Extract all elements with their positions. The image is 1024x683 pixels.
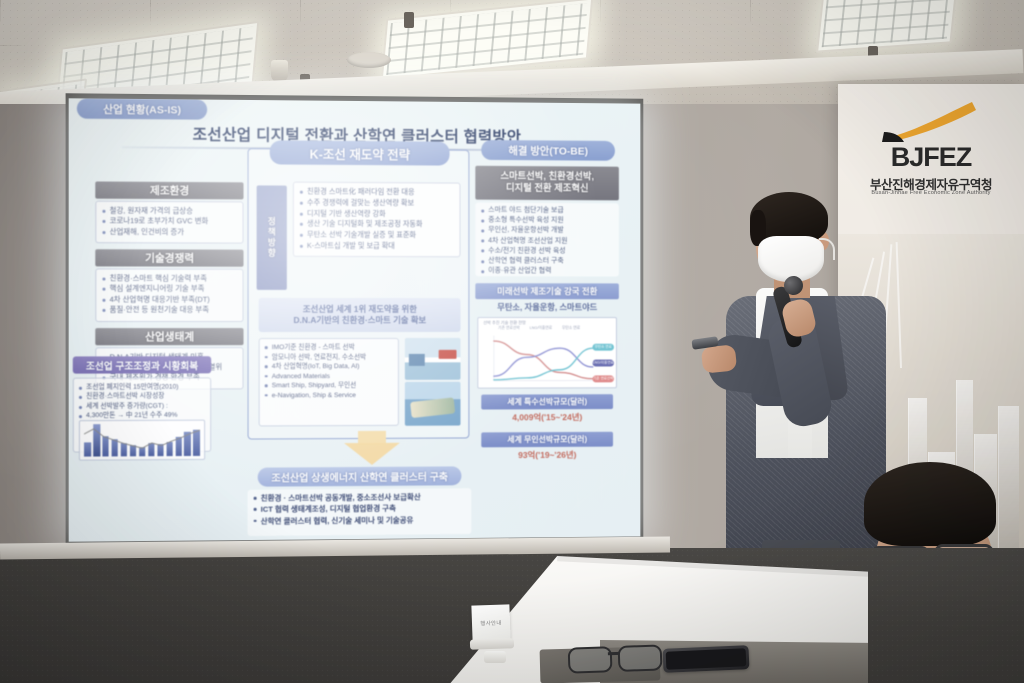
projection-screen: 조선산업 디지털 전환과 산학연 클러스터 협력방안 산업 현황(AS-IS) … xyxy=(69,98,641,541)
list-item: K-스마트십 개발 및 보급 확대 xyxy=(299,241,455,252)
k-shipbuilding-pill: K-조선 재도약 전략 xyxy=(270,140,450,165)
list-item: 산업재해, 인건비의 증가 xyxy=(101,227,237,238)
policy-direction-label: 정책방향 xyxy=(257,185,287,289)
series-tag-3: 무탄소 연료 xyxy=(592,344,614,351)
to-be-heading: 스마트선박, 친환경선박, 디지털 전환 제조혁신 xyxy=(475,166,619,201)
block-heading: 기술경쟁력 xyxy=(95,249,243,267)
list-item: 친환경 스마트化 패러다임 전환 대응 xyxy=(299,187,455,199)
to-be-heading-line-2: 디지털 전환 제조혁신 xyxy=(506,183,589,196)
list-item: 무탄소 선박 기술개발 실증 및 표준화 xyxy=(299,230,455,241)
list-item: 친환경·스마트 핵심 기술력 부족 xyxy=(101,274,237,285)
to-be-heading-line-1: 스마트선박, 친환경선박, xyxy=(500,171,594,184)
to-be-section-pill: 해결 방안(TO-BE) xyxy=(481,140,615,161)
k-shipbuilding-panel: 정책방향 친환경 스마트化 패러다임 전환 대응 수주 경쟁력에 걸맞는 생산역… xyxy=(248,148,470,439)
list-item: 핵심 설계엔지니어링 기술 부족 xyxy=(101,284,237,295)
list-item: 친환경·스마트선박 시장성장 xyxy=(78,392,206,402)
trend-line xyxy=(84,425,200,459)
attendee-hair xyxy=(864,462,996,546)
as-is-section-pill: 산업 현황(AS-IS) xyxy=(77,98,207,119)
series-tag-2: LNG/이중연료 xyxy=(592,360,614,367)
list-item: 스마트 야드 첨단기술 보급 xyxy=(480,206,614,217)
stat-value-2: 93억('19~'26년) xyxy=(481,448,613,463)
as-is-block-manufacturing: 제조환경 철강, 원자재 가격의 급상승 코로나19로 초부가치 GVC 변화 … xyxy=(95,181,243,243)
block-heading: 제조환경 xyxy=(95,181,243,199)
list-item: 생산 기술 디지털화 및 제조공정 자동화 xyxy=(299,219,455,230)
eraser xyxy=(484,651,506,663)
list-item: 4차 산업혁명 대응기반 부족(DT) xyxy=(101,295,237,306)
list-item: 품질·안전 등 원천기술 대응 부족 xyxy=(101,305,237,315)
stat-label-2: 세계 무인선박규모(달러) xyxy=(481,432,613,448)
goal-banner: 조선산업 세계 1위 재도약을 위한 D.N.A기반의 친환경·스마트 기술 확… xyxy=(259,298,461,332)
list-item: Advanced Materials xyxy=(265,372,393,382)
name-card-text: 행사안내 xyxy=(480,619,502,628)
future-ship-subtext: 무탄소, 자율운항, 스마트야드 xyxy=(475,300,619,314)
list-item: 철강, 원자재 가격의 급상승 xyxy=(101,206,237,217)
list-item: 중소형 특수선박 육성 지원 xyxy=(480,216,614,227)
eyeglasses-on-table xyxy=(568,644,665,669)
propulsion-transition-line-chart: 선박 추진 기술 전환 전망 기존 연료선박 LNG/이중연료 무탄소 연료 무… xyxy=(477,317,617,389)
goal-line-1: 조선산업 세계 1위 재도약을 위한 xyxy=(303,304,417,315)
presenter-hand-left xyxy=(701,344,738,373)
list-item: 암모니아 선박, 연료전지, 수소선박 xyxy=(265,352,393,362)
photo-scene: 조선산업 디지털 전환과 산학연 클러스터 협력방안 산업 현황(AS-IS) … xyxy=(0,0,1024,683)
smartphone xyxy=(663,645,750,673)
list-item: e-Navigation, Ship & Service xyxy=(265,391,393,401)
list-item: Smart Ship, Shipyard, 무인선 xyxy=(265,381,393,391)
lens-right xyxy=(618,644,663,672)
list-item: 이종·유관 산업간 협력 xyxy=(480,267,614,277)
bjfez-swoosh-icon xyxy=(880,102,976,142)
name-card-stand xyxy=(470,638,514,650)
list-item: 4차 산업혁명(IoT, Big Data, AI) xyxy=(265,362,393,372)
to-be-bullets: 스마트 야드 첨단기술 보급 중소형 특수선박 육성 지원 무인선, 자율운항선… xyxy=(475,203,619,277)
bjfez-logo-text: BJFEZ xyxy=(838,142,1024,173)
shipyard-photo-thumbnail xyxy=(405,382,461,426)
smoke-detector-icon xyxy=(347,52,391,68)
restructuring-pill: 조선업 구조조정과 시황회복 xyxy=(73,356,211,373)
list-item: 수주 경쟁력에 걸맞는 생산역량 확보 xyxy=(299,197,455,209)
list-item: 조선업 폐지인력 15만여명(2010) xyxy=(78,382,206,392)
name-card: 행사안내 xyxy=(471,604,510,641)
orderbook-bar-chart xyxy=(79,420,205,461)
list-item: 수소/전기 친환경 선박 육성 xyxy=(480,246,614,257)
list-item: 디지털 기반 생산역량 강화 xyxy=(299,208,455,219)
list-item: 무인선, 자율운항선박 개발 xyxy=(480,226,614,237)
list-item: 산학연 협력 클러스터 구축 xyxy=(480,256,614,266)
series-tag-1: 기존 연료선박 xyxy=(592,375,614,382)
sprinkler-head xyxy=(404,12,414,28)
presentation-slide: 조선산업 디지털 전환과 산학연 클러스터 협력방안 산업 현황(AS-IS) … xyxy=(69,98,641,541)
lens-left xyxy=(568,646,613,674)
block-bullets: 철강, 원자재 가격의 급상승 코로나19로 초부가치 GVC 변화 산업재해,… xyxy=(95,201,243,244)
downlight-icon xyxy=(271,60,288,82)
list-item: IMO기준 친환경 - 스마트 선박 xyxy=(265,343,393,353)
cluster-bullets: 친환경 · 스마트선박 공동개발, 중소조선사 보급확산 ICT 협력 생태계조… xyxy=(248,488,472,536)
list-item: 세계 선박발주 증가량(CGT) : xyxy=(78,401,206,411)
future-ship-pill: 미래선박 제조기술 강국 전환 xyxy=(475,283,619,299)
cluster-band: 조선산업 상생에너지 산학연 클러스터 구축 xyxy=(258,466,462,486)
list-item: 코로나19로 초부가치 GVC 변화 xyxy=(101,216,237,227)
stat-value-1: 4,009억('15~'24년) xyxy=(481,410,613,424)
goal-line-2: D.N.A기반의 친환경·스마트 기술 확보 xyxy=(293,315,426,326)
tech-list-box: IMO기준 친환경 - 스마트 선박 암모니아 선박, 연료전지, 수소선박 4… xyxy=(259,338,399,426)
stat-label-1: 세계 특수선박규모(달러) xyxy=(481,394,613,409)
block-bullets: 친환경·스마트 핵심 기술력 부족 핵심 설계엔지니어링 기술 부족 4차 산업… xyxy=(95,269,243,322)
down-arrow-icon xyxy=(344,443,400,465)
policy-bullets: 친환경 스마트化 패러다임 전환 대응 수주 경쟁력에 걸맞는 생산역량 확보 … xyxy=(293,182,461,257)
list-item: 산학연 클러스터 협력, 신기술 세미나 및 기술공유 xyxy=(254,514,466,527)
to-be-column: 해결 방안(TO-BE) 스마트선박, 친환경선박, 디지털 전환 제조혁신 스… xyxy=(473,140,620,538)
list-item: 4차 산업혁명 조선산업 지원 xyxy=(480,236,614,247)
as-is-block-tech: 기술경쟁력 친환경·스마트 핵심 기술력 부족 핵심 설계엔지니어링 기술 부족… xyxy=(95,249,243,321)
ship-photo-thumbnail xyxy=(405,338,461,380)
block-heading: 산업생태계 xyxy=(95,328,243,345)
mask-ear-strap xyxy=(819,238,835,260)
